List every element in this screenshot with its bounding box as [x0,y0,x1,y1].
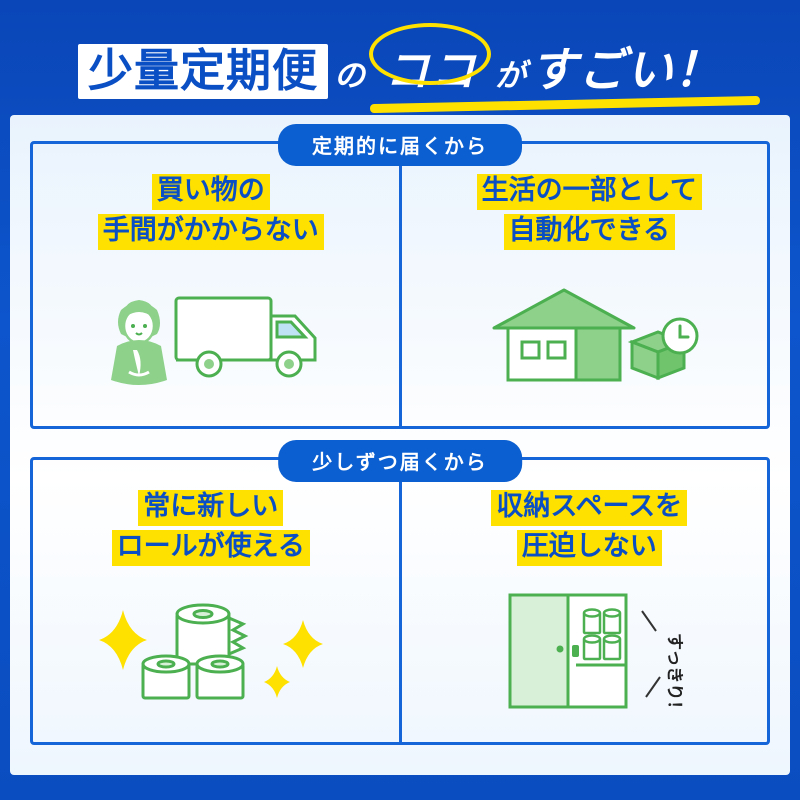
section-title: 定期的に届くから [278,124,522,166]
storage-note: すっきり！ [664,633,684,717]
headline: 少量定期便 の ココ が すごい！ [78,31,722,100]
content-panel: 定期的に届くから 買い物の 手間がかからない [10,115,790,775]
card-line: 生活の一部として [477,174,702,210]
headline-particle-ga: が [493,50,528,95]
card-shopping-effort: 買い物の 手間がかからない [45,166,377,416]
card-text: 常に新しい ロールが使える [112,482,310,568]
headline-koko: ココ [371,35,491,99]
section-regular-delivery: 定期的に届くから 買い物の 手間がかからない [30,141,770,429]
page-header: 少量定期便 の ココ が すごい！ [10,10,790,115]
card-automation: 生活の一部として 自動化できる [424,166,756,416]
illustration-storage-cabinet-with-rolls: すっきり！ [424,568,756,732]
card-storage-space: 収納スペースを 圧迫しない [424,482,756,732]
promo-page: 少量定期便 の ココ が すごい！ 定期的に届くから 買い物の 手間がかからない [0,0,800,800]
headline-sugoi: すごい！ [530,31,722,100]
storage-note-text: すっきり！ [664,633,684,717]
headline-koko-text: ココ [385,46,477,97]
card-line: 収納スペースを [491,490,687,526]
headline-particle-no: の [330,50,369,95]
illustration-woman-and-delivery-truck [45,252,377,416]
illustration-toilet-paper-rolls-with-sparkles [45,568,377,732]
card-line: 買い物の [152,174,270,210]
card-line: 手間がかからない [98,214,324,250]
card-text: 収納スペースを 圧迫しない [491,482,687,568]
card-divider [399,460,402,742]
card-text: 生活の一部として 自動化できる [477,166,702,252]
card-group: 買い物の 手間がかからない [30,141,770,429]
section-small-batches: 少しずつ届くから 常に新しい ロールが使える [30,457,770,745]
headline-badge: 少量定期便 [78,44,328,99]
card-group: 常に新しい ロールが使える [30,457,770,745]
section-title: 少しずつ届くから [278,440,522,482]
card-text: 買い物の 手間がかからない [98,166,324,252]
card-always-fresh-rolls: 常に新しい ロールが使える [45,482,377,732]
card-line: 常に新しい [138,490,283,526]
card-line: 圧迫しない [517,530,662,566]
card-line: 自動化できる [504,214,675,250]
card-divider [399,144,402,426]
illustration-house-with-parcel-and-clock [424,252,756,416]
card-line: ロールが使える [112,530,310,566]
